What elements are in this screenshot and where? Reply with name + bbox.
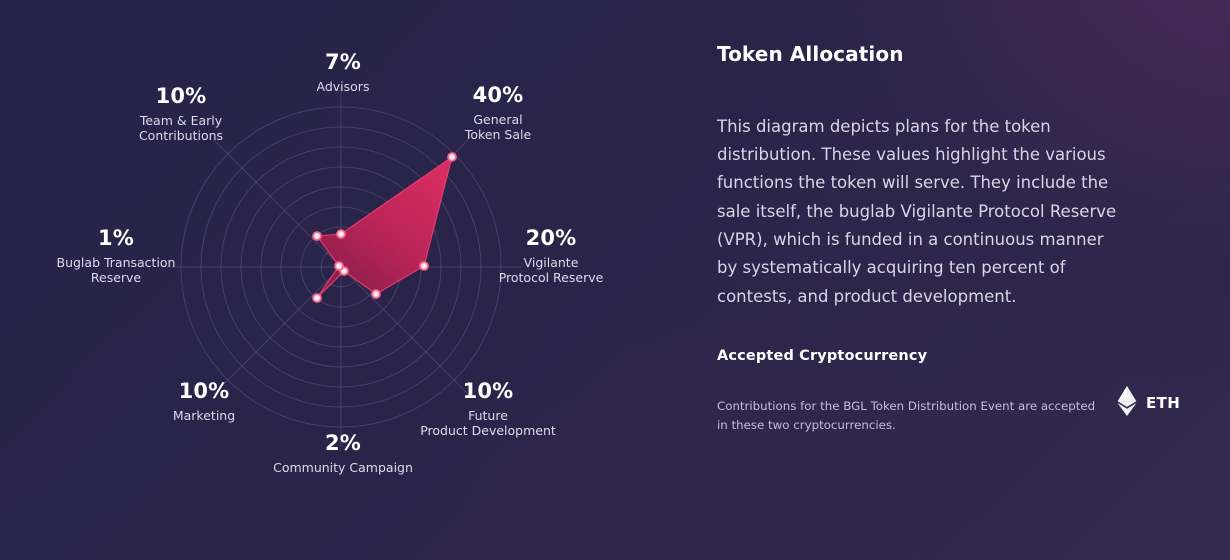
axis-label-7: 10%Team & Early Contributions	[86, 84, 276, 143]
axis-value: 10%	[373, 379, 603, 404]
axis-category: Vigilante Protocol Reserve	[451, 255, 651, 286]
axis-value: 1%	[16, 226, 216, 251]
accepted-cryptocurrency-note: Contributions for the BGL Token Distribu…	[717, 397, 1097, 435]
axis-category: General Token Sale	[408, 112, 588, 143]
axis-category: Buglab Transaction Reserve	[16, 255, 216, 286]
axis-value: 10%	[109, 379, 299, 404]
axis-category: Team & Early Contributions	[86, 113, 276, 144]
info-panel: Token Allocation This diagram depicts pl…	[717, 0, 1187, 560]
token-allocation-infographic: 7%Advisors40%General Token Sale20%Vigila…	[0, 0, 1230, 560]
axis-value: 40%	[408, 83, 588, 108]
page-title: Token Allocation	[717, 42, 904, 66]
axis-value: 2%	[238, 431, 448, 456]
axis-label-3: 10%Future Product Development	[373, 379, 603, 438]
axis-category: Community Campaign	[238, 460, 448, 475]
axis-value: 7%	[248, 50, 438, 75]
axis-label-6: 1%Buglab Transaction Reserve	[16, 226, 216, 285]
axis-label-5: 10%Marketing	[109, 379, 299, 423]
axis-value: 10%	[86, 84, 276, 109]
axis-category: Marketing	[109, 408, 299, 423]
accepted-cryptocurrency-heading: Accepted Cryptocurrency	[717, 348, 927, 364]
description-paragraph: This diagram depicts plans for the token…	[717, 113, 1122, 312]
eth-currency-chip[interactable]: ETH	[1117, 386, 1180, 420]
radar-chart-panel: 7%Advisors40%General Token Sale20%Vigila…	[0, 0, 690, 560]
axis-value: 20%	[451, 226, 651, 251]
eth-label: ETH	[1146, 394, 1180, 412]
axis-label-1: 40%General Token Sale	[408, 83, 588, 142]
axis-label-4: 2%Community Campaign	[238, 431, 448, 475]
axis-label-2: 20%Vigilante Protocol Reserve	[451, 226, 651, 285]
ethereum-icon	[1117, 386, 1137, 420]
